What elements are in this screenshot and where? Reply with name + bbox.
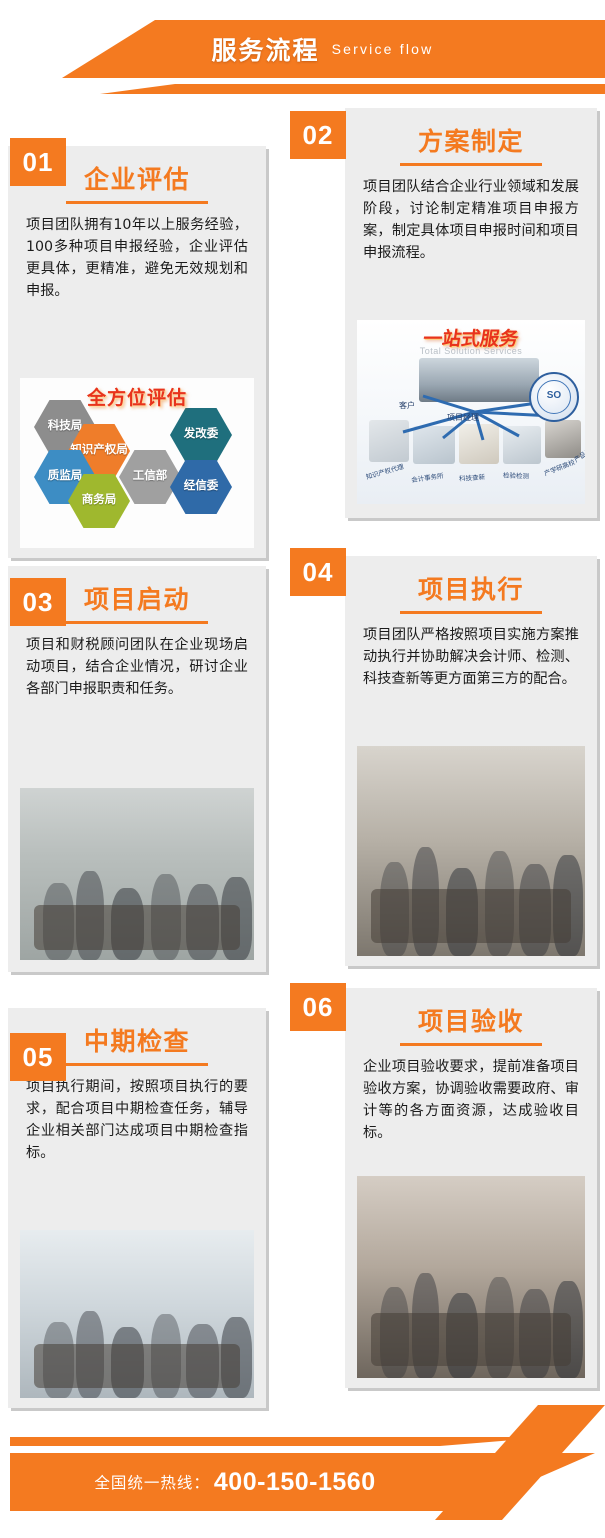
card-number-badge-02: 02 xyxy=(290,111,346,159)
card-content: 项目验收企业项目验收要求，提前准备项目验收方案，协调验收需要政府、审计等的各方面… xyxy=(345,988,597,1154)
card-title: 方案制定 xyxy=(359,108,583,163)
card-content: 方案制定项目团队结合企业行业领域和发展阶段，讨论制定精准项目申报方案，制定具体项… xyxy=(345,108,597,274)
footer-hotline-number[interactable]: 400-150-1560 xyxy=(214,1468,376,1497)
photo-table xyxy=(371,889,572,944)
card-description: 企业项目验收要求，提前准备项目验收方案，协调验收需要政府、审计等的各方面资源，达… xyxy=(359,1056,583,1154)
card-description: 项目团队严格按照项目实施方案推动执行并协助解决会计师、检测、科技查新等更方面第三… xyxy=(359,624,583,700)
process-card-04[interactable]: 项目执行项目团队严格按照项目实施方案推动执行并协助解决会计师、检测、科技查新等更… xyxy=(345,556,597,966)
one-stop-subtitle: Total Solution Services xyxy=(420,346,523,356)
assessment-hex-diagram: 全方位评估科技局知识产权局发改委质监局工信部商务局经信委 xyxy=(20,378,254,548)
card-number-badge-06: 06 xyxy=(290,983,346,1031)
card-media-photo-meeting-room xyxy=(20,788,254,960)
photo-showroom xyxy=(20,1230,254,1398)
one-stop-center-node: 项目经理 xyxy=(447,412,479,423)
card-description: 项目执行期间，按照项目执行的要求，配合项目中期检查任务，辅导企业相关部门达成项目… xyxy=(22,1076,252,1174)
card-number-badge-03: 03 xyxy=(10,578,66,626)
card-media-one-stop-service: 一站式服务Total Solution Services项目经理客户SO知识产权… xyxy=(357,320,585,504)
card-media-photo-workshop xyxy=(357,746,585,956)
title-underline xyxy=(400,163,542,166)
photo-workshop xyxy=(357,746,585,956)
process-card-03[interactable]: 项目启动项目和财税顾问团队在企业现场启动项目，结合企业情况，研讨企业各部门申报职… xyxy=(8,566,266,972)
seal-label: SO xyxy=(531,390,577,401)
photo-table xyxy=(34,1344,240,1388)
one-stop-service-graphic: 一站式服务Total Solution Services项目经理客户SO知识产权… xyxy=(357,320,585,504)
title-underline xyxy=(66,621,208,624)
photo-table xyxy=(34,905,240,950)
card-media-hex-diagram: 全方位评估科技局知识产权局发改委质监局工信部商务局经信委 xyxy=(20,378,254,548)
card-media-photo-showroom xyxy=(20,1230,254,1398)
process-card-06[interactable]: 项目验收企业项目验收要求，提前准备项目验收方案，协调验收需要政府、审计等的各方面… xyxy=(345,988,597,1388)
page-title: 服务流程 xyxy=(212,31,320,67)
footer-hotline-label: 全国统一热线： xyxy=(94,1471,210,1493)
hex-diagram-title: 全方位评估 xyxy=(87,383,187,410)
card-number-badge-01: 01 xyxy=(10,138,66,186)
card-description: 项目团队结合企业行业领域和发展阶段，讨论制定精准项目申报方案，制定具体项目申报时… xyxy=(359,176,583,274)
card-title: 项目验收 xyxy=(359,988,583,1043)
card-description: 项目和财税顾问团队在企业现场启动项目，结合企业情况，研讨企业各部门申报职责和任务… xyxy=(22,634,252,710)
one-stop-label: 检验检测 xyxy=(503,470,529,481)
title-underline xyxy=(400,1043,542,1046)
title-underline xyxy=(400,611,542,614)
page-subtitle: Service flow xyxy=(332,41,434,57)
card-number-badge-04: 04 xyxy=(290,548,346,596)
card-content: 项目执行项目团队严格按照项目实施方案推动执行并协助解决会计师、检测、科技查新等更… xyxy=(345,556,597,700)
page-header: 服务流程 Service flow xyxy=(0,0,605,120)
card-title: 项目执行 xyxy=(359,556,583,611)
hex-node: 工信部 xyxy=(119,450,181,504)
photo-meeting-room xyxy=(20,788,254,960)
footer-hotline: 全国统一热线： 400-150-1560 xyxy=(10,1453,460,1511)
process-card-01[interactable]: 企业评估项目团队拥有10年以上服务经验，100多种项目申报经验，企业评估更具体，… xyxy=(8,146,266,558)
photo-conference xyxy=(357,1176,585,1378)
certification-seal-icon: SO xyxy=(529,372,579,422)
photo-table xyxy=(371,1313,572,1366)
title-underline xyxy=(66,1063,208,1066)
card-number-badge-05: 05 xyxy=(10,1033,66,1081)
one-stop-label: 科技查新 xyxy=(459,471,486,483)
hex-node: 经信委 xyxy=(170,460,232,514)
header-accent-line xyxy=(0,84,605,94)
title-underline xyxy=(66,201,208,204)
process-card-02[interactable]: 方案制定项目团队结合企业行业领域和发展阶段，讨论制定精准项目申报方案，制定具体项… xyxy=(345,108,597,518)
one-stop-client-node: 客户 xyxy=(399,400,415,411)
card-description: 项目团队拥有10年以上服务经验，100多种项目申报经验，企业评估更具体，更精准，… xyxy=(22,214,252,312)
card-media-photo-conference xyxy=(357,1176,585,1378)
header-title-group: 服务流程 Service flow xyxy=(0,20,605,78)
hex-node: 发改委 xyxy=(170,408,232,462)
